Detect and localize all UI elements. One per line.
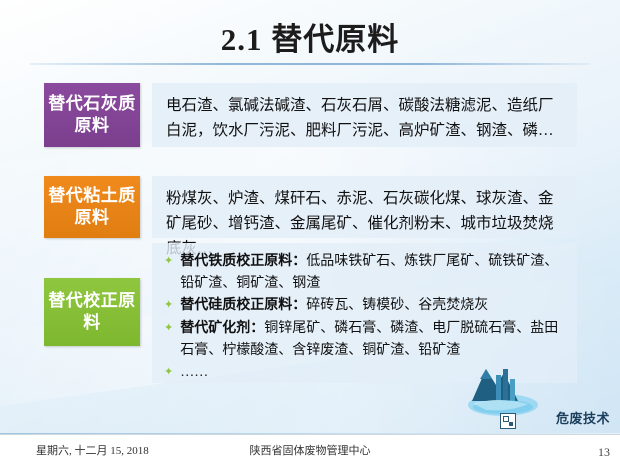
list-item-value: 碎砖瓦、铸模砂、谷壳焚烧灰 (306, 298, 488, 313)
list-item-text: 替代硅质校正原料：碎砖瓦、铸模砂、谷壳焚烧灰 (180, 295, 567, 317)
category-tag-corrective: 替代校正原料 (44, 278, 140, 346)
category-tag-limestone: 替代石灰质原料 (44, 83, 140, 147)
list-item-label: 替代铁质校正原料： (180, 254, 306, 269)
diamond-bullet-icon: ✦ (164, 295, 173, 316)
qr-code-icon (500, 413, 516, 429)
page-title: 2.1 替代原料 (0, 14, 620, 59)
content-row-limestone: 替代石灰质原料 电石渣、氯碱法碱渣、石灰石屑、碳酸法糖滤泥、造纸厂白泥，饮水厂污… (44, 83, 577, 147)
diamond-bullet-icon: ✦ (164, 318, 173, 339)
category-text-clay: 粉煤灰、炉渣、煤矸石、赤泥、石灰碳化煤、球灰渣、金矿尾砂、增钙渣、金属尾矿、催化… (152, 176, 577, 238)
list-item: ✦ 替代铁质校正原料：低品味铁矿石、炼铁厂尾矿、硫铁矿渣、铅矿渣、铜矿渣、钢渣 (164, 251, 567, 294)
footer-organization: 陕西省固体废物管理中心 (0, 442, 620, 458)
slide: 2.1 替代原料 替代石灰质原料 电石渣、氯碱法碱渣、石灰石屑、碳酸法糖滤泥、造… (0, 0, 620, 465)
diamond-bullet-icon: ✦ (164, 362, 173, 383)
logo-label: 危废技术 (556, 408, 610, 427)
list-item-label: 替代矿化剂： (180, 321, 264, 336)
list-item-label: 替代硅质校正原料： (180, 298, 306, 313)
category-tag-clay: 替代粘土质原料 (44, 176, 140, 238)
title-divider (30, 63, 590, 65)
diamond-bullet-icon: ✦ (164, 251, 173, 272)
list-item-value: …… (180, 365, 208, 380)
content-row-clay: 替代粘土质原料 粉煤灰、炉渣、煤矸石、赤泥、石灰碳化煤、球灰渣、金矿尾砂、增钙渣… (44, 176, 577, 238)
mountain-lake-icon (466, 355, 540, 417)
category-text-limestone: 电石渣、氯碱法碱渣、石灰石屑、碳酸法糖滤泥、造纸厂白泥，饮水厂污泥、肥料厂污泥、… (152, 83, 577, 147)
page-number: 13 (598, 445, 610, 460)
list-item: ✦ 替代硅质校正原料：碎砖瓦、铸模砂、谷壳焚烧灰 (164, 295, 567, 317)
watermark-logo: 危废技术 (462, 355, 612, 431)
list-item-text: 替代铁质校正原料：低品味铁矿石、炼铁厂尾矿、硫铁矿渣、铅矿渣、铜矿渣、钢渣 (180, 251, 567, 294)
